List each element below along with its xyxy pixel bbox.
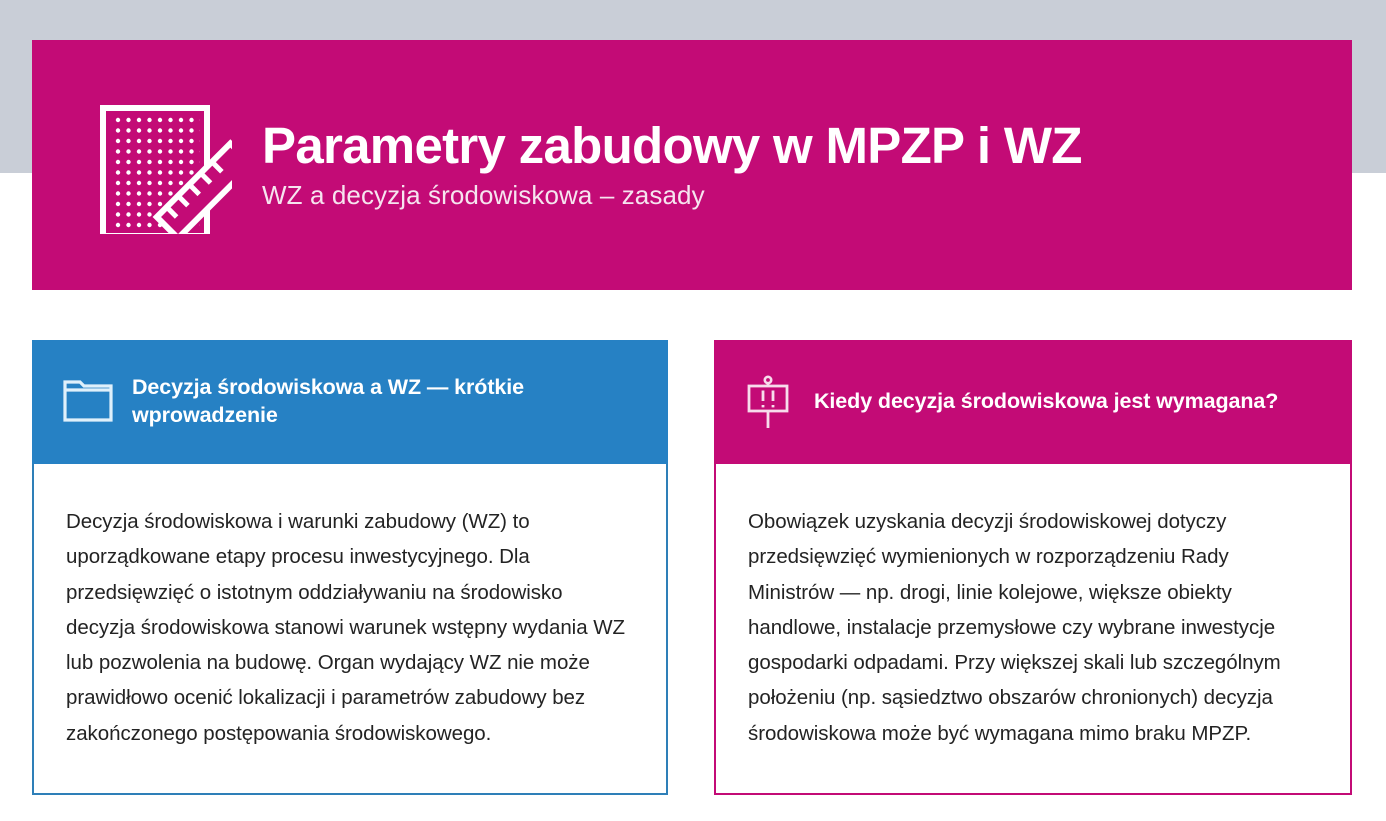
card-body-text: Decyzja środowiskowa i warunki zabudowy … — [66, 504, 636, 751]
card-title: Decyzja środowiskowa a WZ — krótkie wpro… — [132, 374, 642, 429]
hero-banner: Parametry zabudowy w MPZP i WZ WZ a decy… — [32, 40, 1352, 290]
card-decyzja-srodowiskowa-a-wz: Decyzja środowiskowa a WZ — krótkie wpro… — [32, 340, 668, 795]
card-header: Kiedy decyzja środowiskowa jest wymagana… — [714, 340, 1352, 464]
page-subtitle: WZ a decyzja środowiskowa – zasady — [262, 180, 1312, 211]
folder-icon — [62, 378, 120, 426]
slide-root: Parametry zabudowy w MPZP i WZ WZ a decy… — [0, 0, 1386, 821]
card-header: Decyzja środowiskowa a WZ — krótkie wpro… — [32, 340, 668, 464]
hero-text-block: Parametry zabudowy w MPZP i WZ WZ a decy… — [262, 119, 1352, 210]
card-title: Kiedy decyzja środowiskowa jest wymagana… — [814, 388, 1326, 416]
page-title: Parametry zabudowy w MPZP i WZ — [262, 119, 1312, 173]
blueprint-ruler-icon — [88, 96, 238, 234]
card-body-text: Obowiązek uzyskania decyzji środowiskowe… — [748, 504, 1320, 751]
sign-warning-icon — [744, 374, 802, 430]
card-kiedy-decyzja-wymagana: Kiedy decyzja środowiskowa jest wymagana… — [714, 340, 1352, 795]
card-body: Decyzja środowiskowa i warunki zabudowy … — [34, 464, 666, 751]
card-body: Obowiązek uzyskania decyzji środowiskowe… — [716, 464, 1350, 751]
